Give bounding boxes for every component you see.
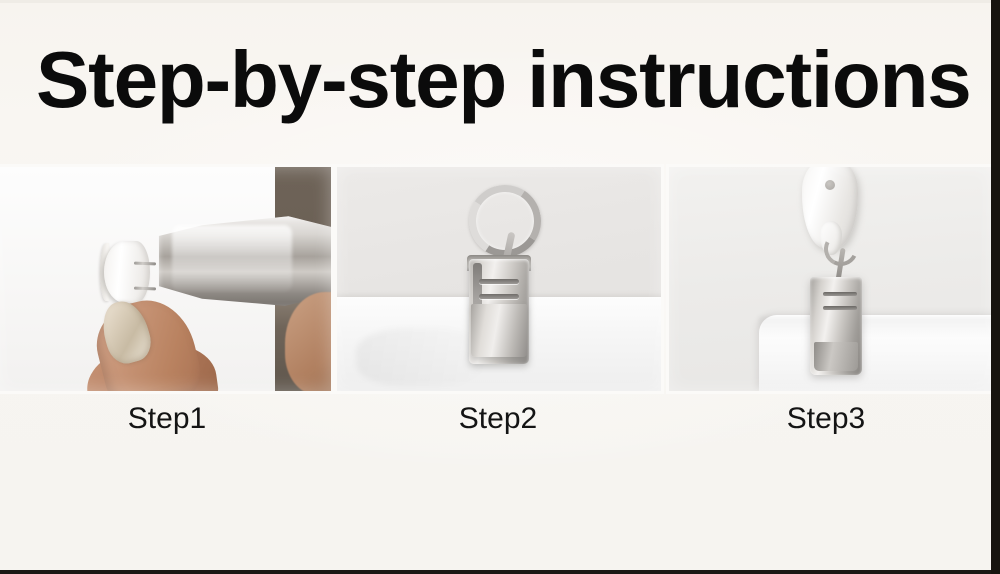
hammer-highlight	[172, 225, 292, 292]
step-3-image-panel: The metal curtain clip hooked onto the w…	[669, 167, 991, 391]
step-2-image-panel: A metal curtain clip with a round hook r…	[337, 167, 661, 391]
clip-slot-lower	[479, 294, 519, 299]
step-1-label: Step1	[0, 398, 334, 440]
curtain-clip-photo	[337, 167, 661, 391]
clip-slot-lower	[823, 306, 857, 310]
clip-slot-upper	[823, 292, 857, 296]
hook-pin-lower	[134, 286, 156, 290]
step-2-label: Step2	[335, 398, 661, 440]
step-3-label: Step3	[663, 398, 989, 440]
top-edge-hairline	[0, 0, 1000, 3]
fabric-edge-shadow	[759, 317, 991, 337]
wall-hook-disc	[104, 241, 150, 303]
clip-jaw	[471, 304, 527, 358]
page-title: Step-by-step instructions	[36, 34, 976, 126]
hammer-wall-hook-photo	[0, 167, 331, 391]
step-captions-row: Step1 Step2 Step3	[0, 398, 1000, 440]
infographic-page: Step-by-step instructions A hammer tappi…	[0, 0, 1000, 574]
right-edge-border	[991, 0, 1000, 574]
steps-image-row: A hammer tapping a white adhesive wall p…	[0, 167, 1000, 391]
clip-jaw	[814, 342, 858, 371]
fabric-fold-shadow	[356, 328, 486, 386]
clip-slot-upper	[479, 279, 519, 284]
bottom-edge-border	[0, 570, 1000, 574]
step-1-image-panel: A hammer tapping a white adhesive wall p…	[0, 167, 331, 391]
clip-hung-on-hook-photo	[669, 167, 991, 391]
